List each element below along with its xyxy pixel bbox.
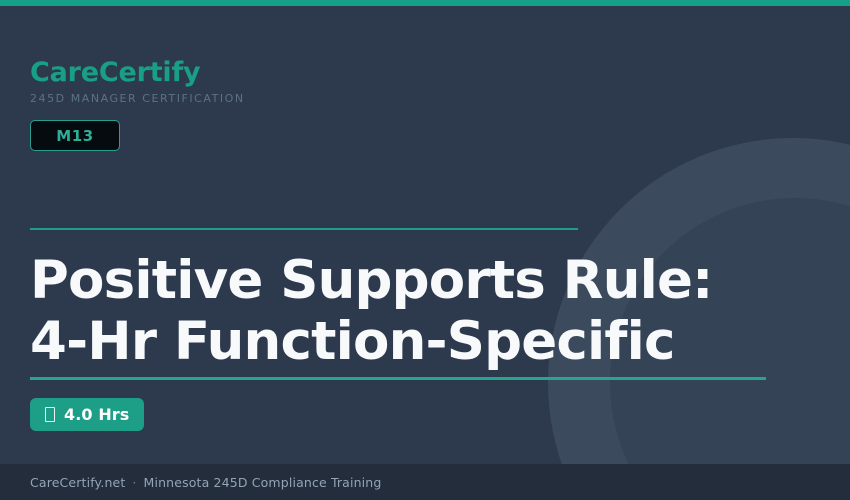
footer-description: Minnesota 245D Compliance Training: [144, 475, 382, 490]
page-title: Positive Supports Rule: 4-Hr Function-Sp…: [30, 250, 820, 373]
duration-label: 4.0 Hrs: [64, 405, 129, 424]
duration-badge: 4.0 Hrs: [30, 398, 144, 431]
divider-below-title: [30, 377, 766, 380]
brand-block: CareCertify 245D MANAGER CERTIFICATION: [30, 58, 245, 105]
page-title-line-1: Positive Supports Rule:: [30, 250, 820, 311]
top-accent-bar: [0, 0, 850, 6]
brand-name: CareCertify: [30, 58, 245, 88]
course-title-card: CareCertify 245D MANAGER CERTIFICATION M…: [0, 0, 850, 500]
module-badge: M13: [30, 120, 120, 151]
footer-separator: ·: [132, 475, 136, 490]
footer-text: CareCertify.net · Minnesota 245D Complia…: [30, 464, 381, 500]
page-title-line-2: 4-Hr Function-Specific: [30, 311, 820, 372]
clock-icon: [45, 407, 55, 422]
card-content: CareCertify 245D MANAGER CERTIFICATION M…: [0, 0, 850, 500]
brand-tagline: 245D MANAGER CERTIFICATION: [30, 92, 245, 105]
footer-bar: CareCertify.net · Minnesota 245D Complia…: [0, 464, 850, 500]
divider-above-title: [30, 228, 578, 230]
footer-site: CareCertify.net: [30, 475, 125, 490]
